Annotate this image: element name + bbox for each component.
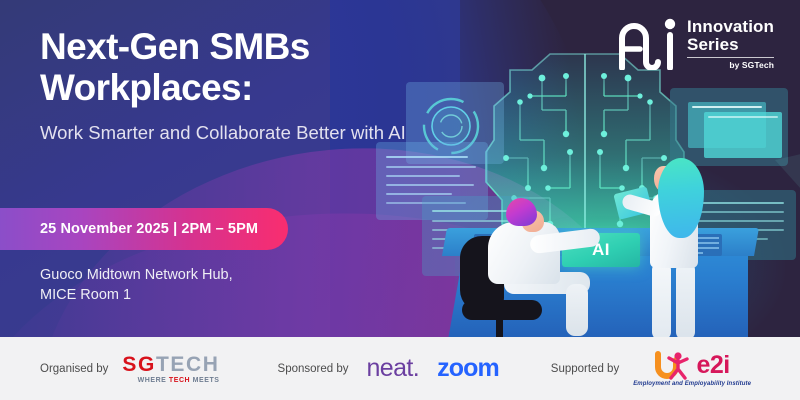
venue-text: Guoco Midtown Network Hub, MICE Room 1	[40, 266, 233, 305]
event-banner: AI Innovation Series by S	[0, 0, 800, 400]
person-seated-hair	[506, 198, 537, 226]
ai-innovation-series-logo: Innovation Series by SGTech	[612, 18, 774, 70]
person-seated-body	[488, 222, 560, 284]
ai-monogram-icon	[612, 18, 678, 70]
date-time-badge: 25 November 2025 | 2PM – 5PM	[0, 208, 288, 250]
e2i-mark-row: e2i	[654, 350, 729, 380]
title-line-1: Next-Gen SMBs	[40, 26, 410, 67]
ai-logo-byline: by SGTech	[687, 61, 774, 70]
date-time-text: 25 November 2025 | 2PM – 5PM	[40, 221, 258, 237]
zoom-logo: zoom	[437, 354, 499, 383]
sgtech-tagline-1: WHERE	[138, 377, 169, 384]
ai-logo-divider	[687, 57, 774, 58]
sgtech-tagline-2: TECH	[169, 377, 193, 384]
ai-logo-line1: Innovation	[687, 18, 774, 35]
sgtech-sg: SG	[122, 353, 156, 376]
title-line-2: Workplaces:	[40, 67, 410, 108]
sponsor-group-supported: Supported by e2i Employment and Employab…	[551, 350, 751, 387]
person-seated-shin	[566, 284, 588, 336]
headline-block: Next-Gen SMBs Workplaces: Work Smarter a…	[40, 26, 410, 145]
ai-logo-line2: Series	[687, 36, 774, 53]
person-standing-leg-right	[676, 262, 695, 340]
sponsored-by-label: Sponsored by	[278, 363, 349, 375]
sponsor-group-organised: Organised by SGTECH WHERE TECH MEETS	[40, 354, 220, 384]
e2i-figure-icon	[654, 350, 698, 380]
light-beam	[775, 120, 800, 355]
e2i-wordmark: e2i	[696, 351, 729, 380]
subtitle: Work Smarter and Collaborate Better with…	[40, 121, 410, 145]
ai-logo-wordmark: Innovation Series by SGTech	[687, 18, 774, 70]
person-standing-leg-left	[652, 262, 671, 340]
supported-by-label: Supported by	[551, 363, 619, 375]
sgtech-wordmark: SGTECH	[122, 354, 219, 375]
sgtech-tagline: WHERE TECH MEETS	[138, 377, 220, 384]
e2i-logo: e2i Employment and Employability Institu…	[633, 350, 751, 387]
sponsor-group-sponsored: Sponsored by neat. zoom	[278, 354, 499, 383]
e2i-subtitle: Employment and Employability Institute	[633, 381, 751, 387]
sgtech-logo: SGTECH WHERE TECH MEETS	[122, 354, 219, 384]
neat-logo: neat.	[367, 354, 420, 383]
floating-window-group-right	[670, 88, 788, 166]
sponsor-bar: Organised by SGTECH WHERE TECH MEETS Spo…	[0, 337, 800, 400]
sgtech-tech: TECH	[156, 353, 220, 376]
sgtech-tagline-3: MEETS	[193, 377, 220, 384]
organised-by-label: Organised by	[40, 363, 108, 375]
